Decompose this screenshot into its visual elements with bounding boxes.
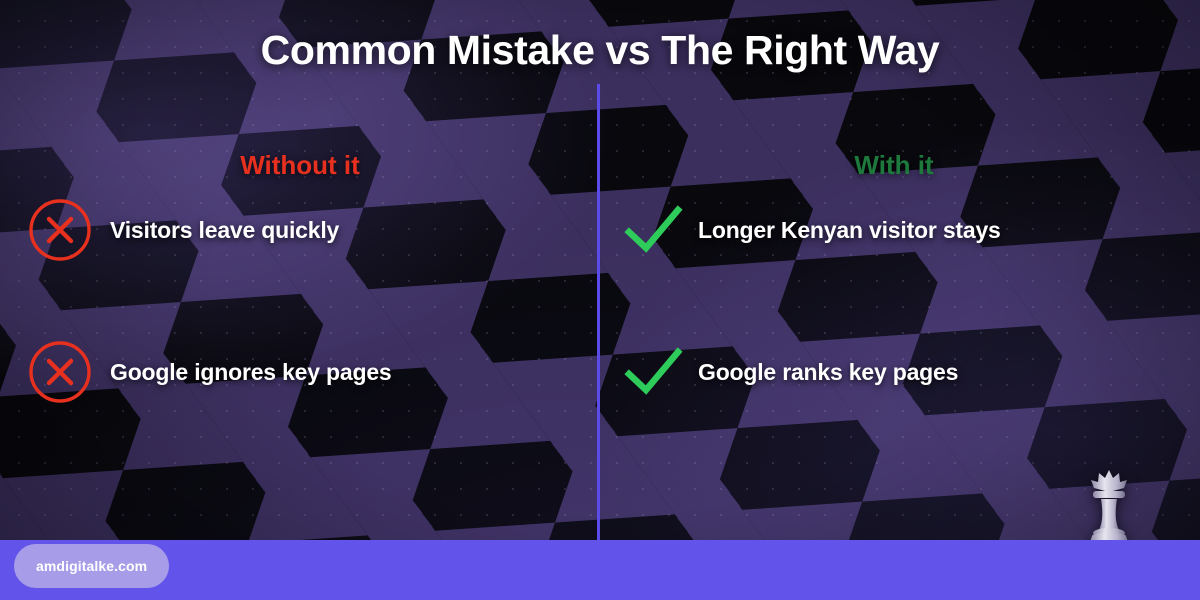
list-item-label: Google ignores key pages xyxy=(110,359,392,386)
list-item: Google ignores key pages xyxy=(20,337,580,407)
check-icon xyxy=(614,344,684,400)
column-divider xyxy=(597,84,600,541)
circle-x-icon xyxy=(20,196,94,264)
list-item: Visitors leave quickly xyxy=(20,195,580,265)
chess-queen-icon xyxy=(1080,466,1138,548)
column-without: Without it Visitors leave quickly Google… xyxy=(20,150,580,407)
list-item: Google ranks key pages xyxy=(614,337,1174,407)
list-item-label: Google ranks key pages xyxy=(698,359,958,386)
page-title: Common Mistake vs The Right Way xyxy=(0,27,1200,74)
list-item-label: Visitors leave quickly xyxy=(110,217,339,244)
column-with: With it Longer Kenyan visitor stays Goog… xyxy=(614,150,1174,407)
circle-x-icon xyxy=(20,338,94,406)
website-badge[interactable]: amdigitalke.com xyxy=(14,544,169,588)
footer-bar xyxy=(0,540,1200,600)
website-badge-label: amdigitalke.com xyxy=(36,558,147,574)
list-item: Longer Kenyan visitor stays xyxy=(614,195,1174,265)
column-heading-with: With it xyxy=(614,150,1174,181)
slide-canvas: Common Mistake vs The Right Way Without … xyxy=(0,0,1200,600)
check-icon xyxy=(614,202,684,258)
column-heading-without: Without it xyxy=(20,150,580,181)
list-item-label: Longer Kenyan visitor stays xyxy=(698,217,1001,244)
